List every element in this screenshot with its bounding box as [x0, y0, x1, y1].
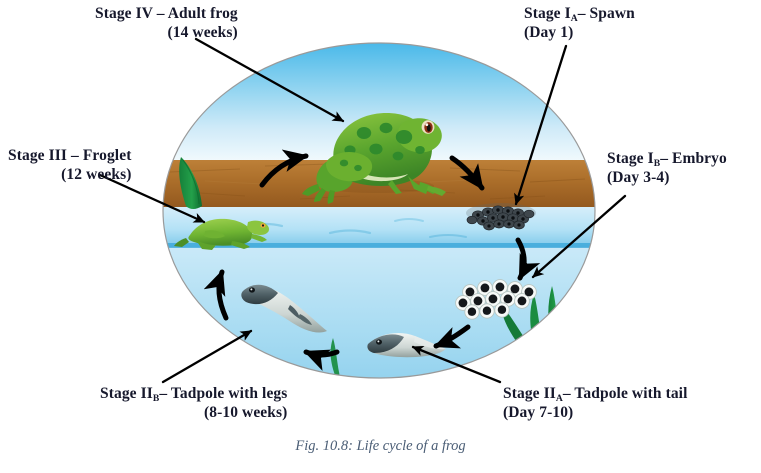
figure-caption: Fig. 10.8: Life cycle of a frog [0, 438, 761, 455]
label-stage-iia-line2: (Day 7-10) [503, 403, 688, 422]
label-stage-iib-tadpole-with-legs: Stage IIB– Tadpole with legs (8-10 weeks… [100, 384, 287, 423]
label-stage-iii-froglet: Stage III – Froglet (12 weeks) [8, 146, 131, 185]
label-stage-iv-adult-frog: Stage IV – Adult frog (14 weeks) [95, 4, 238, 43]
label-stage-iii-line2: (12 weeks) [8, 165, 131, 184]
scene-interior [160, 40, 600, 383]
label-stage-ia-subscript: A [571, 13, 578, 24]
pointer-arrow-stage2b [163, 331, 251, 382]
label-stage-iia-subscript: A [556, 393, 563, 404]
label-stage-iv-line1: Stage IV – Adult frog [95, 4, 238, 23]
label-stage-iia-tadpole-with-tail: Stage IIA– Tadpole with tail (Day 7-10) [503, 384, 688, 423]
label-stage-ib-embryo: Stage IB– Embryo (Day 3-4) [607, 149, 727, 188]
label-stage-iib-line1: Stage IIB– Tadpole with legs [100, 384, 287, 403]
label-stage-iii-line1: Stage III – Froglet [8, 146, 131, 165]
label-stage-iib-subscript: B [153, 393, 159, 404]
label-stage-ib-line2: (Day 3-4) [607, 168, 727, 187]
label-stage-iia-line1: Stage IIA– Tadpole with tail [503, 384, 688, 403]
label-stage-ib-subscript: B [654, 158, 660, 169]
label-stage-iib-line2: (8-10 weeks) [100, 403, 287, 422]
cycle-arrow-tadpole-to-tadpole-legs [306, 352, 337, 355]
label-stage-ib-line1: Stage IB– Embryo [607, 149, 727, 168]
label-stage-ia-line2: (Day 1) [524, 23, 635, 42]
figure-life-cycle-of-a-frog: Stage IV – Adult frog (14 weeks) Stage I… [0, 0, 761, 473]
label-stage-iv-line2: (14 weeks) [95, 23, 238, 42]
label-stage-ia-line1: Stage IA– Spawn [524, 4, 635, 23]
label-stage-ia-spawn: Stage IA– Spawn (Day 1) [524, 4, 635, 43]
